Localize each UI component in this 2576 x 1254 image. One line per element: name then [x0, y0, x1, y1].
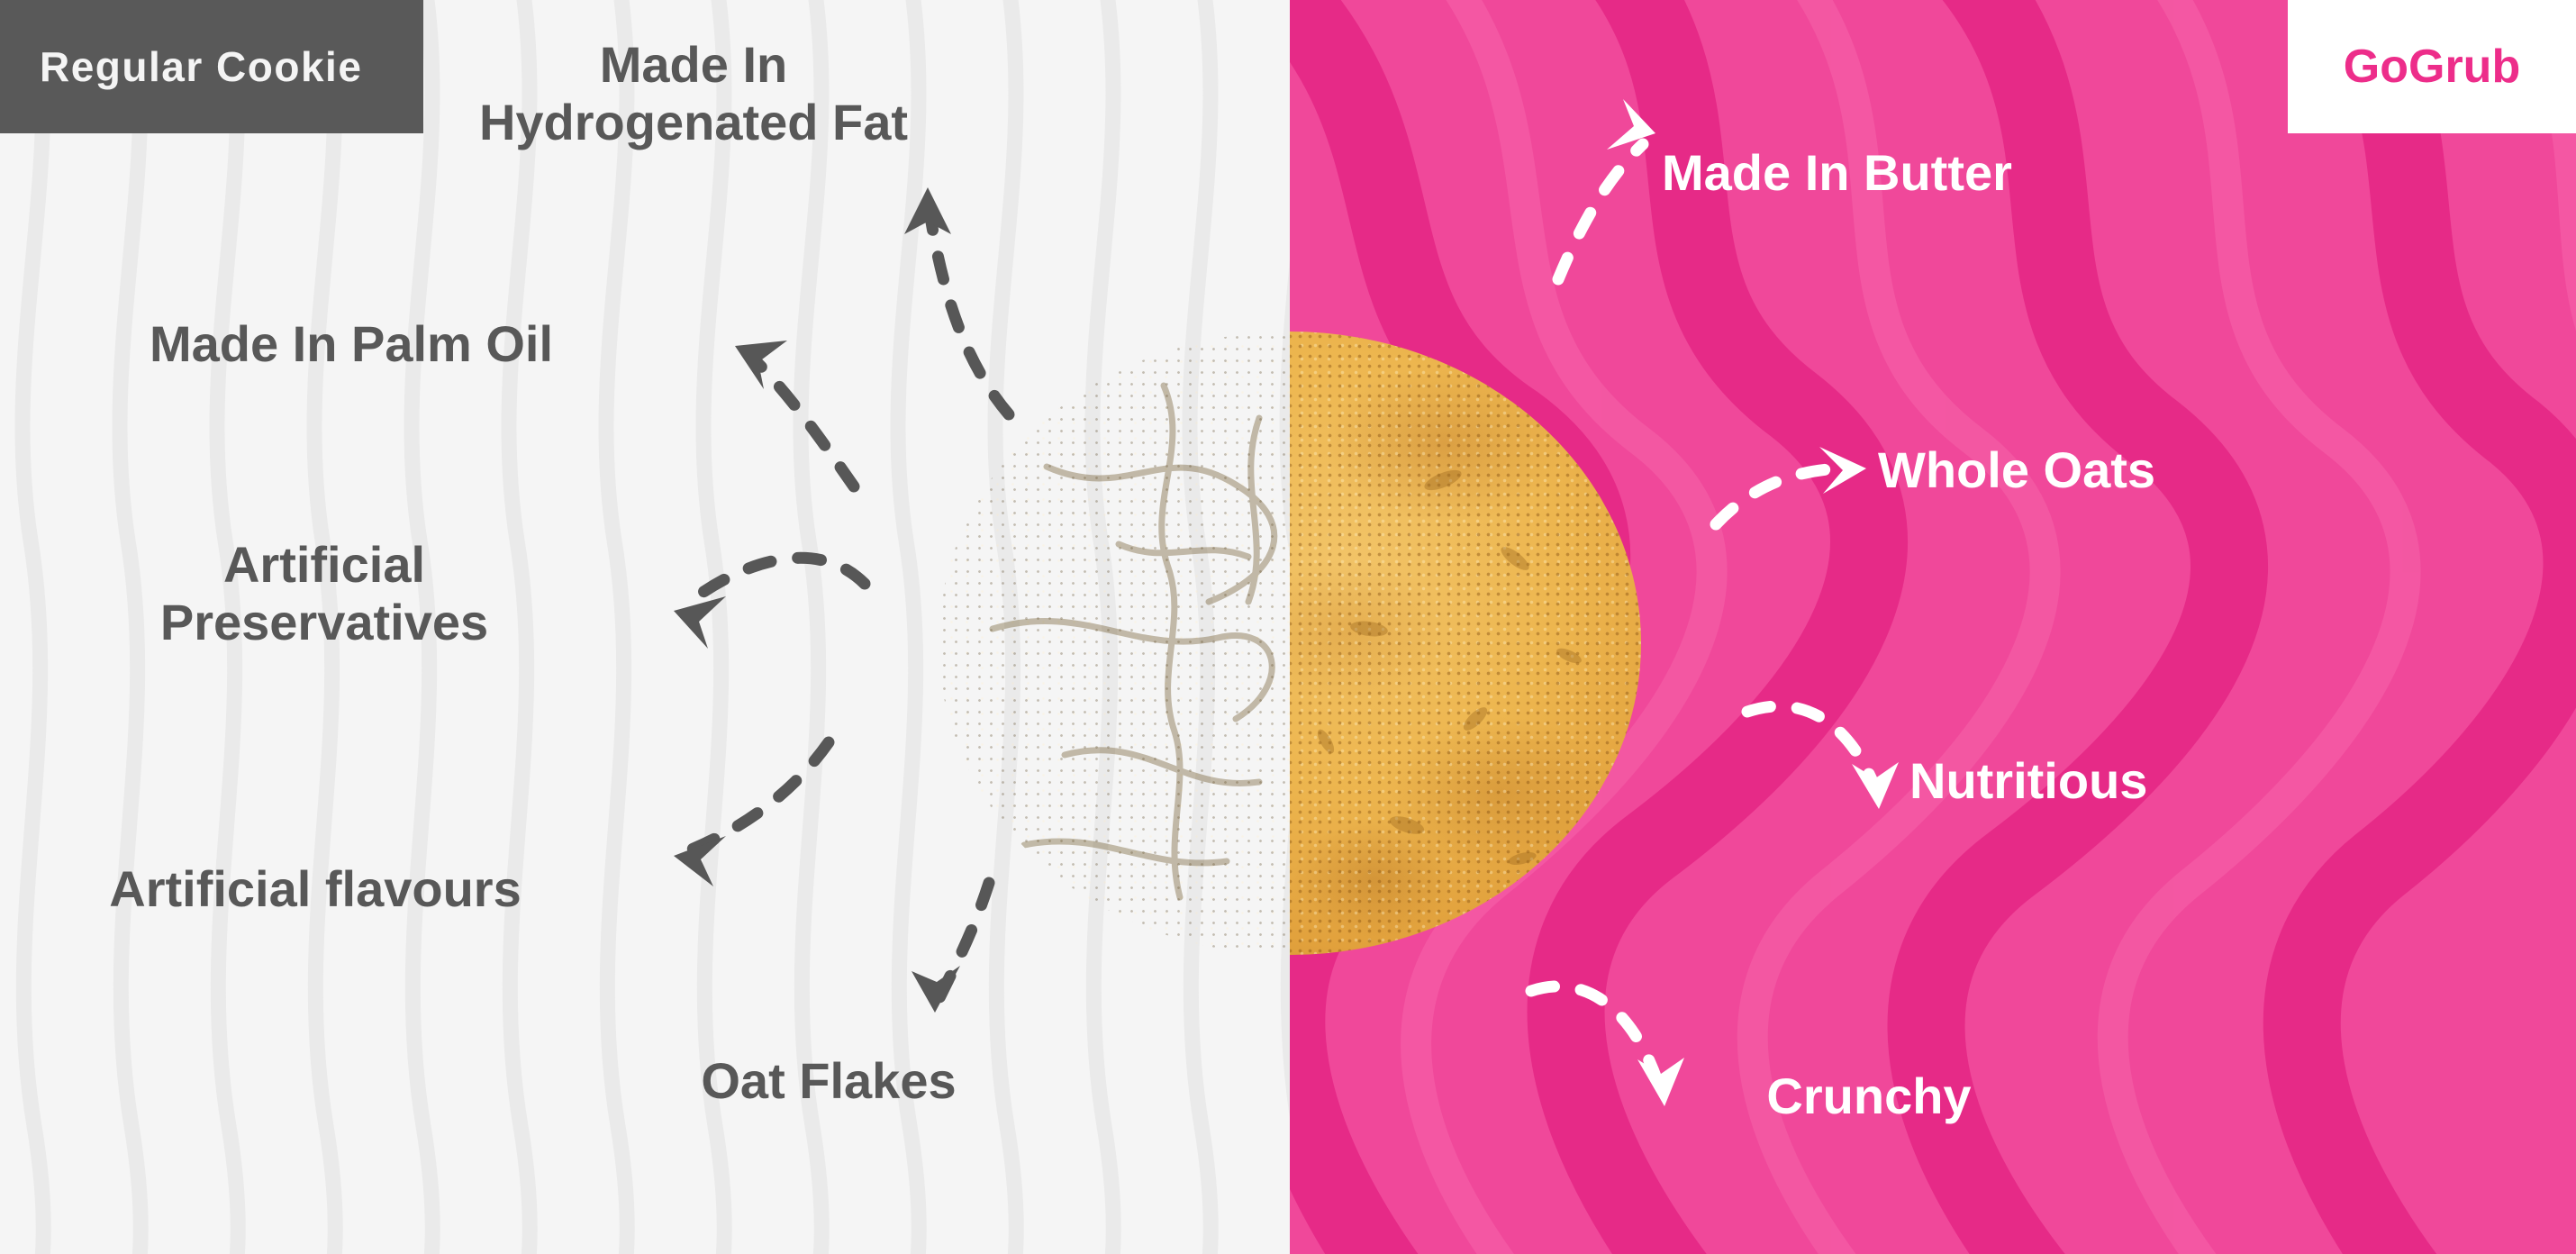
- label-made-in-butter: Made In Butter: [1662, 144, 2220, 202]
- label-oat-flakes: Oat Flakes: [630, 1052, 1027, 1110]
- label-nutritious: Nutritious: [1909, 752, 2342, 810]
- regular-cookie-badge-label: Regular Cookie: [40, 42, 362, 91]
- cookie-disc-left: [939, 332, 1290, 955]
- label-artificial-preservatives: Artificial Preservatives: [81, 536, 567, 651]
- label-crunchy: Crunchy: [1671, 1068, 2067, 1125]
- regular-cookie-badge: Regular Cookie: [0, 0, 423, 133]
- label-palm-oil: Made In Palm Oil: [45, 315, 658, 373]
- infographic-canvas: Made In Hydrogenated Fat Made In Palm Oi…: [0, 0, 2576, 1254]
- cookie-half-regular: [939, 332, 1290, 955]
- split-cookie-image: [939, 332, 1641, 955]
- brand-logo-box[interactable]: GoGrub: [2288, 0, 2576, 133]
- label-whole-oats: Whole Oats: [1878, 441, 2346, 499]
- cookie-crack-lines: [939, 332, 1290, 955]
- cookie-half-gogrub: [1290, 332, 1641, 955]
- label-hydrogenated-fat: Made In Hydrogenated Fat: [387, 36, 1000, 151]
- label-artificial-flavours: Artificial flavours: [27, 860, 603, 918]
- gogrub-logo-text: GoGrub: [2344, 40, 2520, 94]
- oat-flake-specks: [1290, 332, 1641, 955]
- cookie-disc-right: [1290, 332, 1641, 955]
